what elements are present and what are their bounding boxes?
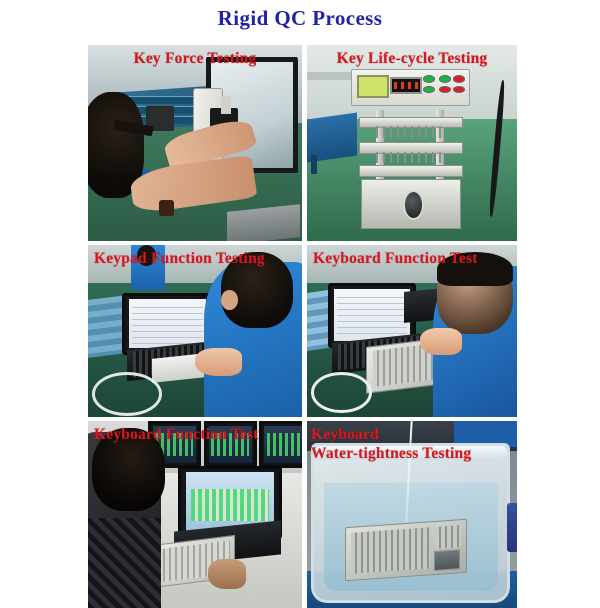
photo-keypad-function-testing[interactable]: Keypad Function Testing: [88, 245, 302, 417]
photo-key-force-testing[interactable]: Key Force Testing: [88, 45, 302, 241]
photo-keyboard-function-test-a-scene: [307, 245, 517, 417]
photo-keyboard-function-test-b-scene: [88, 421, 302, 608]
caption-keyboard-function-test-b: Keyboard Function Test: [88, 425, 302, 444]
caption-line-2: Water-tightness Testing: [311, 444, 517, 463]
caption-key-force-testing: Key Force Testing: [88, 49, 302, 68]
photo-keyboard-function-test-a[interactable]: Keyboard Function Test: [307, 245, 517, 417]
caption-key-life-cycle-testing: Key Life-cycle Testing: [307, 49, 517, 68]
photo-key-life-cycle-testing-scene: [307, 45, 517, 241]
caption-keyboard-function-test-a: Keyboard Function Test: [307, 249, 517, 268]
photo-key-force-testing-scene: [88, 45, 302, 241]
photo-grid: Key Force Testing: [88, 45, 512, 600]
caption-keypad-function-testing: Keypad Function Testing: [88, 249, 302, 268]
photo-keyboard-function-test-b[interactable]: Keyboard Function Test: [88, 421, 302, 608]
photo-keyboard-water-tightness-testing[interactable]: Keyboard Water-tightness Testing: [307, 421, 517, 608]
caption-line-1: Keyboard: [311, 426, 379, 443]
photo-key-life-cycle-testing[interactable]: Key Life-cycle Testing: [307, 45, 517, 241]
photo-keypad-function-testing-scene: [88, 245, 302, 417]
page-title: Rigid QC Process: [0, 6, 600, 31]
caption-keyboard-water-tightness-testing: Keyboard Water-tightness Testing: [307, 425, 517, 463]
qc-process-collage: Rigid QC Process: [0, 0, 600, 600]
